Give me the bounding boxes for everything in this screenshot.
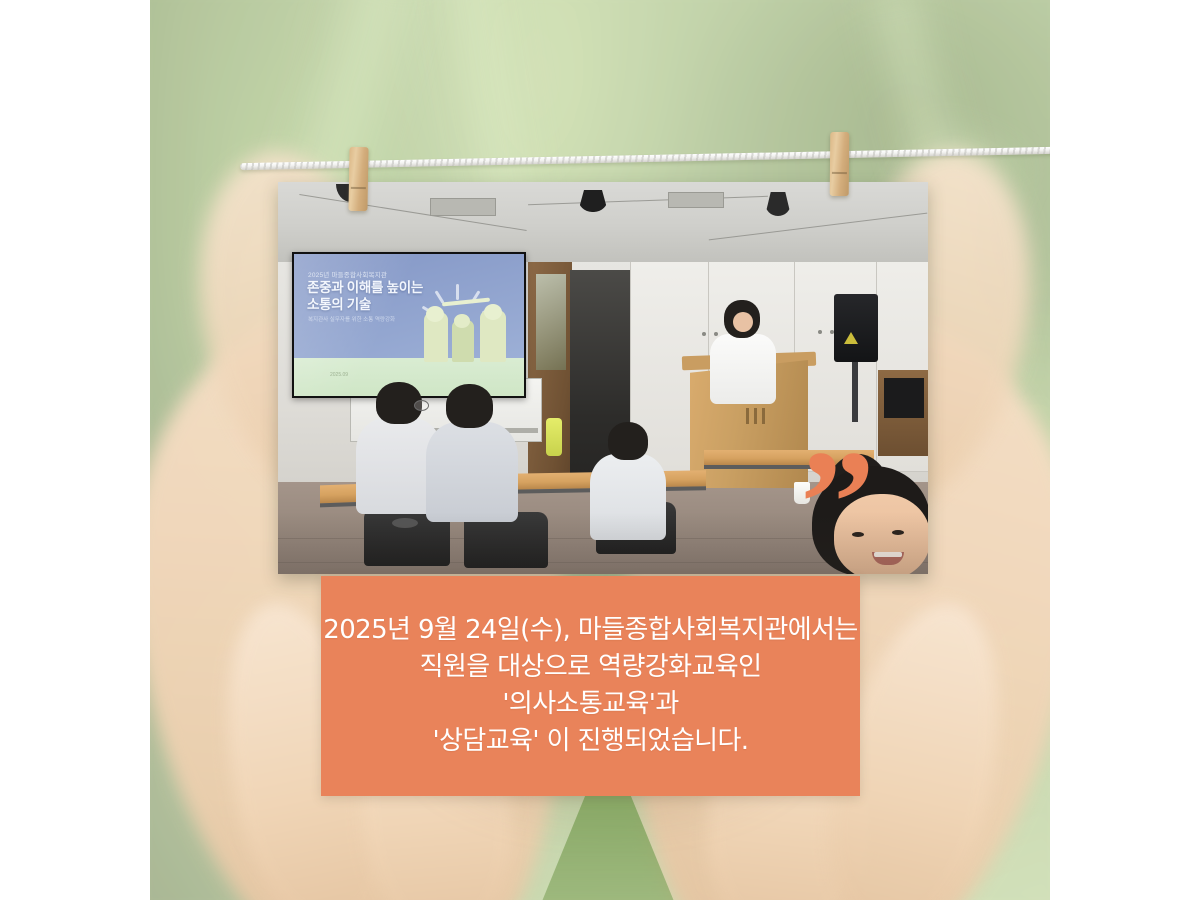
quotation-mark-icon: ” xyxy=(800,458,920,548)
poster-canvas: 2025년 마들종합사회복지관 존중과 이해를 높이는 소통의 기술 복지관사 … xyxy=(0,0,1200,900)
caption-line-3: '의사소통교육'과 xyxy=(502,686,678,723)
letterbox-right xyxy=(1050,0,1200,900)
caption-box: 2025년 9월 24일(수), 마들종합사회복지관에서는 직원을 대상으로 역… xyxy=(321,576,860,796)
caption-line-2: 직원을 대상으로 역량강화교육인 xyxy=(420,649,762,686)
clothespin-left xyxy=(348,147,368,211)
caption-line-4: '상담교육' 이 진행되었습니다. xyxy=(433,723,749,760)
caption-line-1: 2025년 9월 24일(수), 마들종합사회복지관에서는 xyxy=(323,612,857,649)
clothespin-right xyxy=(830,132,850,196)
letterbox-left xyxy=(0,0,150,900)
